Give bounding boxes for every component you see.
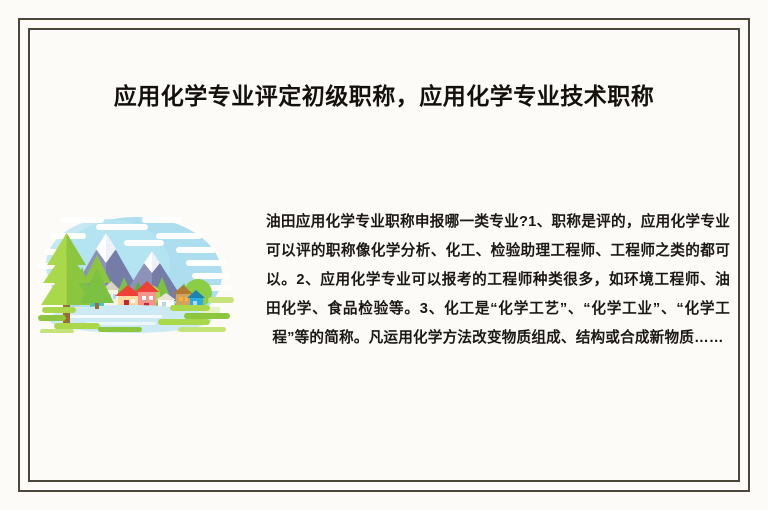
- article-body-text: 油田应用化学专业职称申报哪一类专业?1、职称是评的，应用化学专业可以评的职称像化…: [266, 208, 730, 353]
- page-canvas: 应用化学专业评定初级职称，应用化学专业技术职称: [0, 0, 768, 510]
- page-title: 应用化学专业评定初级职称，应用化学专业技术职称: [0, 80, 768, 112]
- mountain-village-illustration: [38, 203, 234, 333]
